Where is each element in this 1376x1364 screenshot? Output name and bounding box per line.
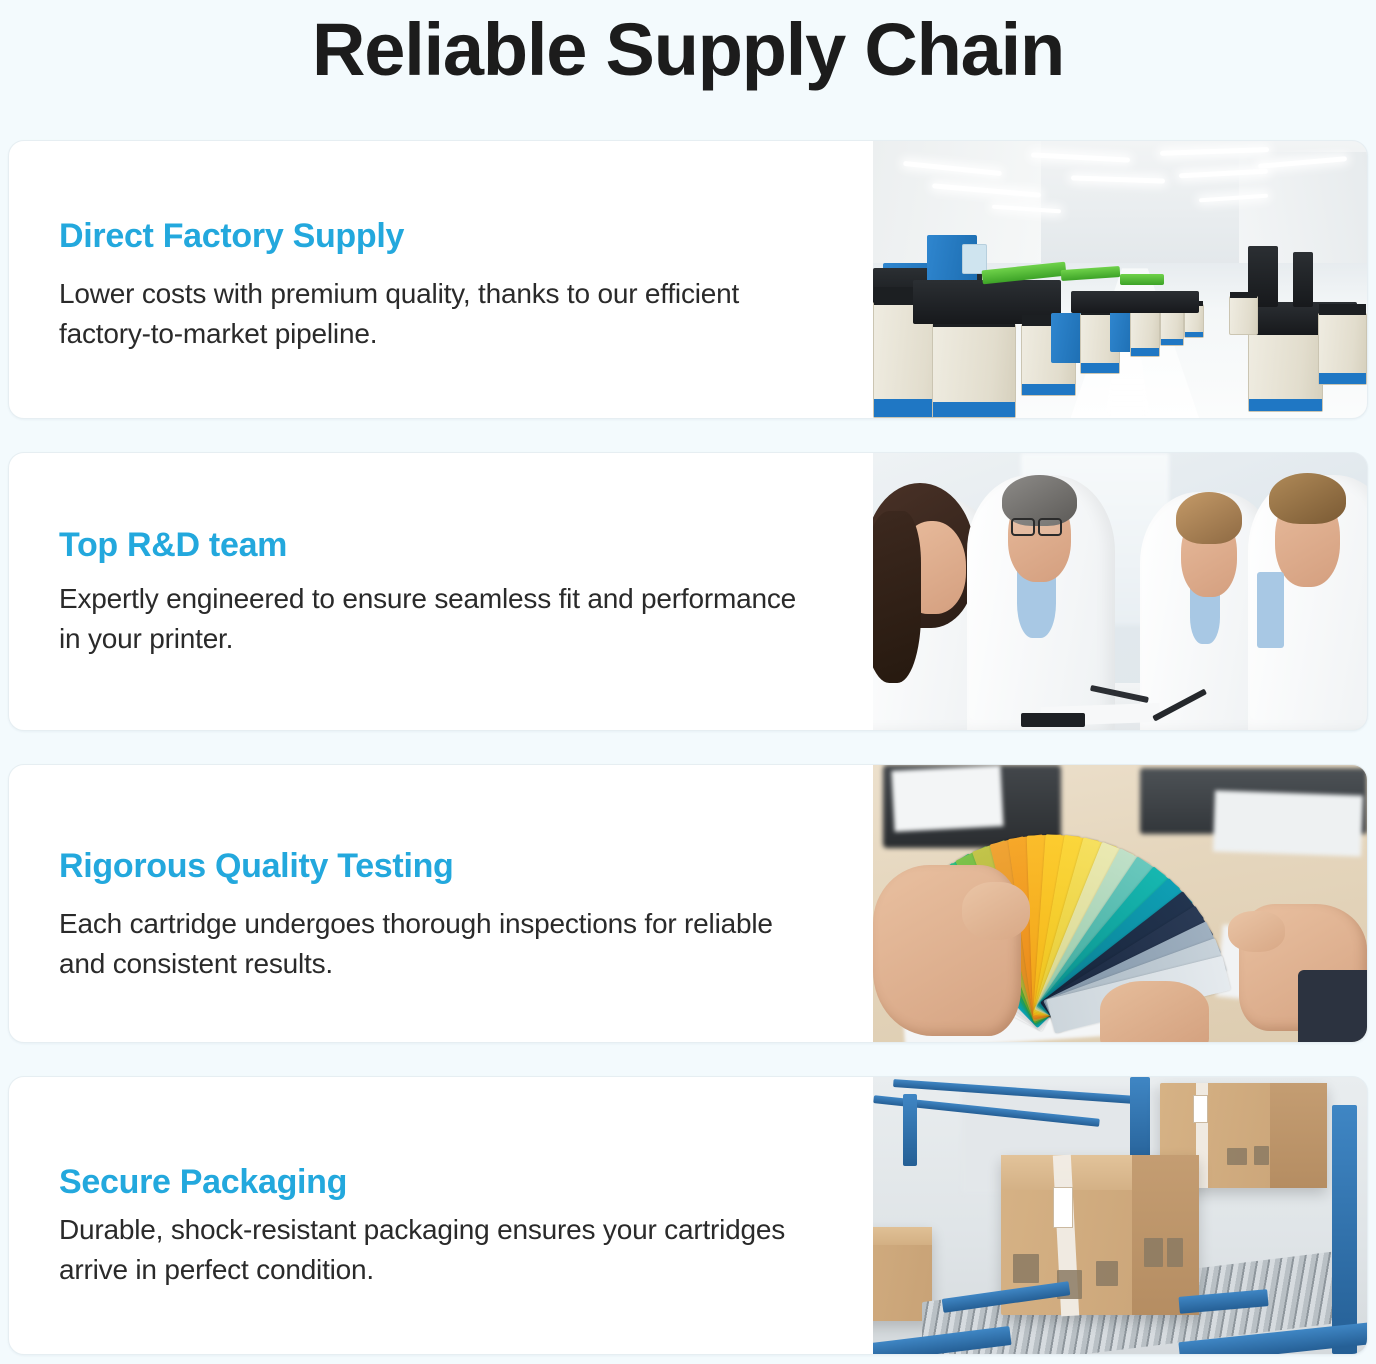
card-image-color-swatch-fan xyxy=(873,765,1367,1042)
card-description: Durable, shock-resistant packaging ensur… xyxy=(59,1210,799,1290)
card-title: Direct Factory Supply xyxy=(59,216,819,256)
card-image-factory-production-line xyxy=(873,141,1367,418)
card-text-block: Top R&D team Expertly engineered to ensu… xyxy=(9,453,873,730)
feature-card-direct-factory-supply[interactable]: Direct Factory Supply Lower costs with p… xyxy=(8,140,1368,419)
card-image-boxes-conveyor xyxy=(873,1077,1367,1354)
card-title: Secure Packaging xyxy=(59,1162,819,1202)
card-title: Rigorous Quality Testing xyxy=(59,846,819,886)
page-title: Reliable Supply Chain xyxy=(0,0,1376,140)
card-text-block: Secure Packaging Durable, shock-resistan… xyxy=(9,1077,873,1354)
feature-card-rigorous-quality-testing[interactable]: Rigorous Quality Testing Each cartridge … xyxy=(8,764,1368,1043)
feature-card-secure-packaging[interactable]: Secure Packaging Durable, shock-resistan… xyxy=(8,1076,1368,1355)
card-description: Each cartridge undergoes thorough inspec… xyxy=(59,904,799,984)
card-description: Lower costs with premium quality, thanks… xyxy=(59,274,799,354)
feature-card-top-rd-team[interactable]: Top R&D team Expertly engineered to ensu… xyxy=(8,452,1368,731)
card-description: Expertly engineered to ensure seamless f… xyxy=(59,579,799,659)
card-text-block: Rigorous Quality Testing Each cartridge … xyxy=(9,765,873,1042)
feature-card-list: Direct Factory Supply Lower costs with p… xyxy=(0,140,1376,1364)
card-text-block: Direct Factory Supply Lower costs with p… xyxy=(9,141,873,418)
card-title: Top R&D team xyxy=(59,525,819,565)
card-image-research-team xyxy=(873,453,1367,730)
left-hand xyxy=(873,865,1021,1037)
